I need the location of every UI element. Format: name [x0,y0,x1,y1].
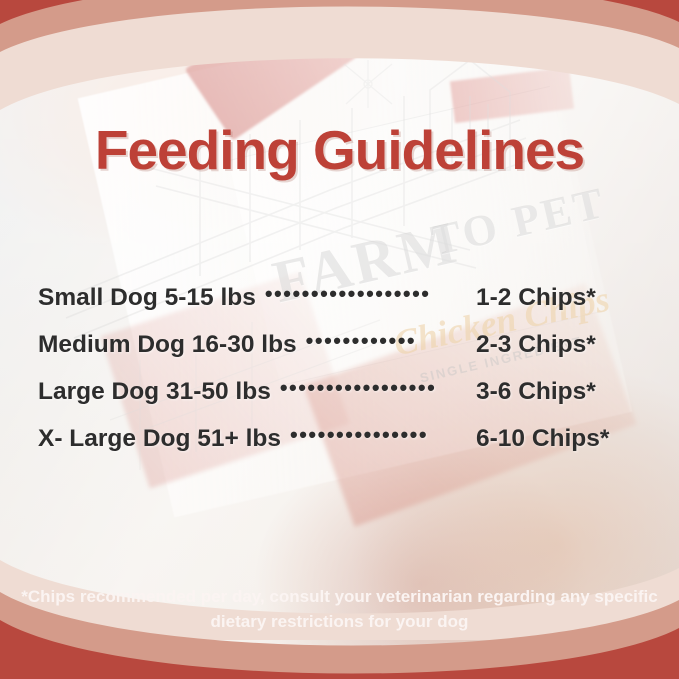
guideline-label: Medium Dog 16-30 lbs [38,331,297,359]
guideline-value: 1-2 Chips* [476,284,644,312]
footer-disclaimer: *Chips recommended per day, consult your… [20,585,660,634]
footer-band: *Chips recommended per day, consult your… [0,567,679,679]
dot-leader: •••••••••••• [306,330,467,352]
guideline-row: Small Dog 5-15 lbs •••••••••••••••••• 1-… [38,284,644,331]
guideline-label: Small Dog 5-15 lbs [38,284,256,312]
guideline-value: 6-10 Chips* [476,425,644,453]
feeding-guideline-list: Small Dog 5-15 lbs •••••••••••••••••• 1-… [38,284,644,472]
dot-leader: •••••••••••••••••• [265,283,467,305]
guideline-label: Large Dog 31-50 lbs [38,378,271,406]
guideline-row: Large Dog 31-50 lbs ••••••••••••••••• 3-… [38,378,644,425]
page-title: Feeding Guidelines [0,118,679,182]
feeding-guidelines-infographic: FARM TO PET Chicken Chips SINGLE INGREDI… [0,0,679,679]
guideline-row: X- Large Dog 51+ lbs ••••••••••••••• 6-1… [38,425,644,472]
dot-leader: ••••••••••••••••• [280,377,467,399]
guideline-row: Medium Dog 16-30 lbs •••••••••••• 2-3 Ch… [38,331,644,378]
dot-leader: ••••••••••••••• [290,424,467,446]
guideline-value: 2-3 Chips* [476,331,644,359]
guideline-value: 3-6 Chips* [476,378,644,406]
guideline-label: X- Large Dog 51+ lbs [38,425,281,453]
